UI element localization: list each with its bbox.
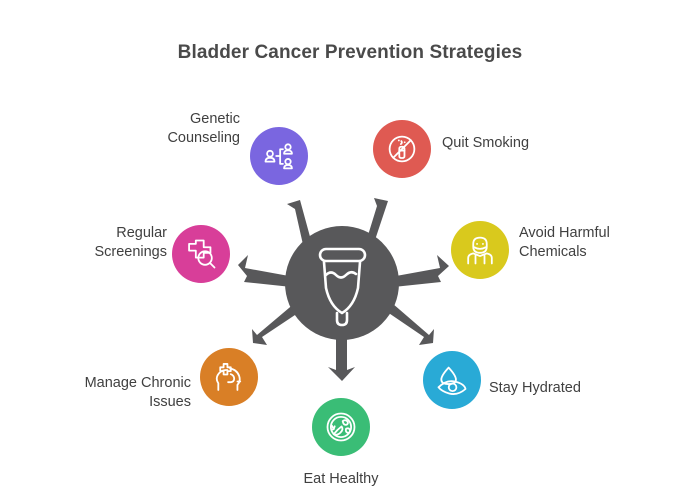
node-stay-hydrated[interactable]	[423, 351, 481, 409]
node-regular-screenings[interactable]	[172, 225, 230, 283]
cross-magnifier-icon	[183, 236, 219, 272]
node-quit-smoking[interactable]	[373, 120, 431, 178]
page-title: Bladder Cancer Prevention Strategies	[0, 42, 700, 64]
worker-mask-icon	[462, 232, 498, 268]
vegetables-plate-icon	[323, 409, 359, 445]
hub-circle	[285, 226, 399, 340]
node-label-manage-chronic-issues: Manage Chronic Issues	[36, 374, 191, 412]
prevention-strategies-diagram: Bladder Cancer Prevention Strategies	[0, 0, 700, 500]
node-genetic-counseling[interactable]	[250, 127, 308, 185]
node-label-genetic-counseling: Genetic Counseling	[110, 110, 240, 148]
bladder-icon	[320, 249, 365, 325]
node-label-quit-smoking: Quit Smoking	[442, 134, 602, 153]
node-manage-chronic-issues[interactable]	[200, 348, 258, 406]
radiating-arrows	[238, 198, 449, 381]
family-tree-icon	[261, 138, 297, 174]
node-label-avoid-harmful-chemicals: Avoid Harmful Chemicals	[519, 224, 669, 262]
water-drop-icon	[434, 362, 470, 398]
node-label-stay-hydrated: Stay Hydrated	[489, 379, 649, 398]
head-medical-icon	[211, 359, 247, 395]
node-label-eat-healthy: Eat Healthy	[261, 470, 421, 489]
node-label-regular-screenings: Regular Screenings	[40, 224, 167, 262]
node-eat-healthy[interactable]	[312, 398, 370, 456]
node-avoid-harmful-chemicals[interactable]	[451, 221, 509, 279]
no-smoking-icon	[384, 131, 420, 167]
